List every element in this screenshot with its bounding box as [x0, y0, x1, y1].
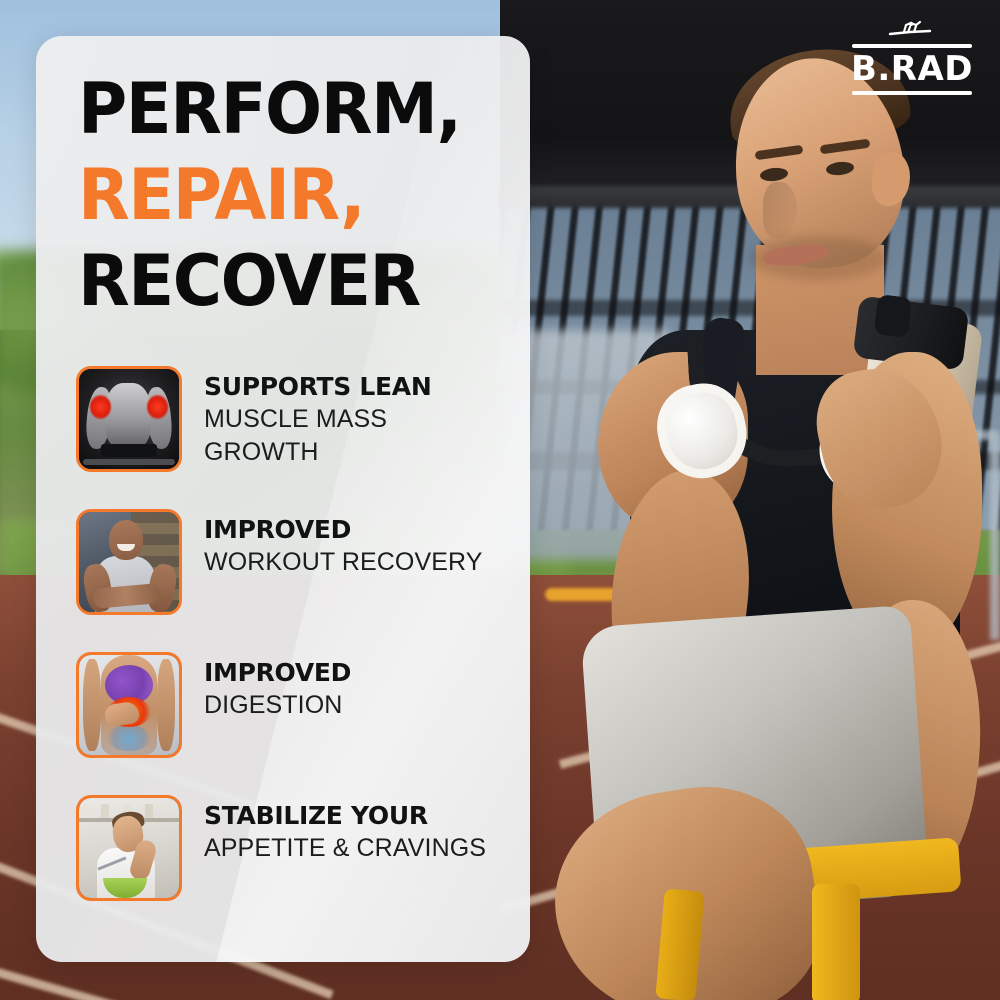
logo-wordmark: B.RAD	[846, 50, 978, 87]
athlete-on-bar-icon	[846, 18, 978, 44]
athlete-ear	[872, 152, 910, 206]
shaker-bottle-spout	[874, 294, 913, 338]
benefit-item: STABILIZE YOUR APPETITE & CRAVINGS	[76, 795, 496, 901]
benefit-title: STABILIZE YOUR	[204, 799, 486, 832]
athlete-subject	[520, 0, 1000, 1000]
headline-block: PERFORM, REPAIR, RECOVER	[78, 66, 498, 324]
benefit-body: DIGESTION	[204, 689, 351, 722]
yellow-bench-leg	[812, 884, 860, 1000]
brand-logo[interactable]: B.RAD	[846, 18, 978, 95]
benefit-item: IMPROVED WORKOUT RECOVERY	[76, 509, 496, 615]
digestive-anatomy-torso-thumbnail	[76, 652, 182, 758]
benefit-text: IMPROVED DIGESTION	[204, 652, 351, 722]
benefit-title: IMPROVED	[204, 513, 483, 546]
smiling-athlete-arms-crossed-thumbnail	[76, 509, 182, 615]
benefit-text: SUPPORTS LEAN MUSCLE MASS GROWTH	[204, 366, 496, 469]
benefit-title: IMPROVED	[204, 656, 351, 689]
content-card: PERFORM, REPAIR, RECOVER SUPPORTS LEAN M…	[36, 36, 530, 962]
man-eating-bowl-thumbnail	[76, 795, 182, 901]
benefit-item: IMPROVED DIGESTION	[76, 652, 496, 758]
product-ad-banner: B.RAD PERFORM, REPAIR, RECOVER	[0, 0, 1000, 1000]
benefit-text: STABILIZE YOUR APPETITE & CRAVINGS	[204, 795, 486, 865]
benefits-list: SUPPORTS LEAN MUSCLE MASS GROWTH IMPROVE…	[76, 366, 496, 901]
headline-line-2: REPAIR,	[78, 152, 481, 238]
benefit-text: IMPROVED WORKOUT RECOVERY	[204, 509, 483, 579]
benefit-item: SUPPORTS LEAN MUSCLE MASS GROWTH	[76, 366, 496, 472]
headline-line-3: RECOVER	[78, 238, 481, 324]
logo-bottom-rule	[852, 91, 972, 95]
benefit-body: WORKOUT RECOVERY	[204, 546, 483, 579]
muscular-torso-biceps-thumbnail	[76, 366, 182, 472]
benefit-body: APPETITE & CRAVINGS	[204, 832, 486, 865]
benefit-body: MUSCLE MASS GROWTH	[204, 403, 496, 469]
headline-line-1: PERFORM,	[78, 66, 481, 152]
benefit-title: SUPPORTS LEAN	[204, 370, 496, 403]
